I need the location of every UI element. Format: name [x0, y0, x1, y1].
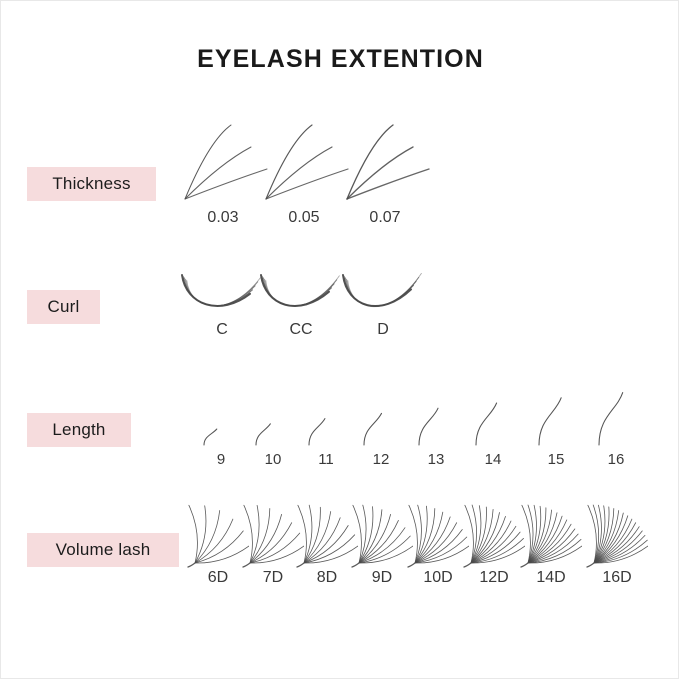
lash-sample-label: 10D — [407, 569, 469, 587]
lash-sample-label: 10 — [250, 451, 296, 468]
eyelash-extension-chart: EYELASH EXTENTION Thickness 0.030.050.07… — [0, 0, 679, 679]
row-length: 910111213141516 — [196, 393, 666, 479]
lash-sample-label: D — [337, 321, 429, 339]
lash-single-icon — [533, 393, 579, 451]
lash-sample-volume-6d: 6D — [187, 495, 249, 569]
lash-sample-curl-d: D — [337, 259, 429, 321]
lash-fan-icon — [463, 495, 525, 569]
lash-sample-thickness-0.07: 0.07 — [337, 119, 433, 205]
lash-sample-label: 15 — [533, 451, 579, 468]
category-chip-length: Length — [27, 413, 131, 447]
page-title: EYELASH EXTENTION — [1, 45, 679, 74]
lash-sample-length-13: 13 — [413, 393, 459, 451]
lash-curl-icon — [337, 259, 429, 321]
lash-sample-label: 9 — [198, 451, 244, 468]
lash-sample-volume-12d: 12D — [463, 495, 525, 569]
lash-sample-label: 16 — [593, 451, 639, 468]
category-label-volume: Volume lash — [56, 540, 151, 560]
category-label-thickness: Thickness — [52, 174, 130, 194]
lash-sample-volume-8d: 8D — [296, 495, 358, 569]
lash-sample-volume-7d: 7D — [242, 495, 304, 569]
lash-fan-icon — [351, 495, 413, 569]
lash-sample-label: 8D — [296, 569, 358, 587]
lash-sample-label: 9D — [351, 569, 413, 587]
lash-fan-icon — [296, 495, 358, 569]
lash-fan-icon — [520, 495, 582, 569]
lash-sample-curl-cc: CC — [255, 259, 347, 321]
lash-sample-label: 0.07 — [337, 209, 433, 227]
lash-sample-volume-9d: 9D — [351, 495, 413, 569]
lash-sample-volume-10d: 10D — [407, 495, 469, 569]
row-volume: 6D7D8D9D10D12D14D16D — [187, 495, 657, 603]
lash-single-icon — [250, 393, 296, 451]
lash-single-icon — [358, 393, 404, 451]
lash-sample-volume-14d: 14D — [520, 495, 582, 569]
lash-sample-label: 14 — [470, 451, 516, 468]
lash-fan-3-icon — [337, 119, 433, 205]
lash-curl-icon — [255, 259, 347, 321]
lash-sample-length-15: 15 — [533, 393, 579, 451]
lash-sample-label: 6D — [187, 569, 249, 587]
lash-sample-length-12: 12 — [358, 393, 404, 451]
category-chip-curl: Curl — [27, 290, 100, 324]
row-thickness: 0.030.050.07 — [186, 119, 666, 239]
category-chip-volume: Volume lash — [27, 533, 179, 567]
lash-single-icon — [413, 393, 459, 451]
lash-sample-length-11: 11 — [303, 393, 349, 451]
lash-single-icon — [303, 393, 349, 451]
lash-sample-label: 7D — [242, 569, 304, 587]
lash-fan-icon — [187, 495, 249, 569]
lash-sample-length-16: 16 — [593, 393, 639, 451]
row-curl: CCCD — [171, 259, 661, 359]
lash-sample-label: 11 — [303, 451, 349, 468]
category-label-curl: Curl — [48, 297, 80, 317]
lash-fan-icon — [407, 495, 469, 569]
lash-sample-length-9: 9 — [198, 393, 244, 451]
lash-sample-label: 16D — [586, 569, 648, 587]
lash-sample-label: CC — [255, 321, 347, 339]
lash-fan-icon — [586, 495, 648, 569]
lash-single-icon — [470, 393, 516, 451]
lash-sample-label: 12 — [358, 451, 404, 468]
lash-sample-label: 12D — [463, 569, 525, 587]
category-label-length: Length — [52, 420, 105, 440]
lash-fan-icon — [242, 495, 304, 569]
lash-sample-label: 13 — [413, 451, 459, 468]
lash-single-icon — [198, 393, 244, 451]
lash-sample-length-10: 10 — [250, 393, 296, 451]
category-chip-thickness: Thickness — [27, 167, 156, 201]
lash-sample-label: 14D — [520, 569, 582, 587]
lash-sample-length-14: 14 — [470, 393, 516, 451]
lash-single-icon — [593, 393, 639, 451]
lash-sample-volume-16d: 16D — [586, 495, 648, 569]
